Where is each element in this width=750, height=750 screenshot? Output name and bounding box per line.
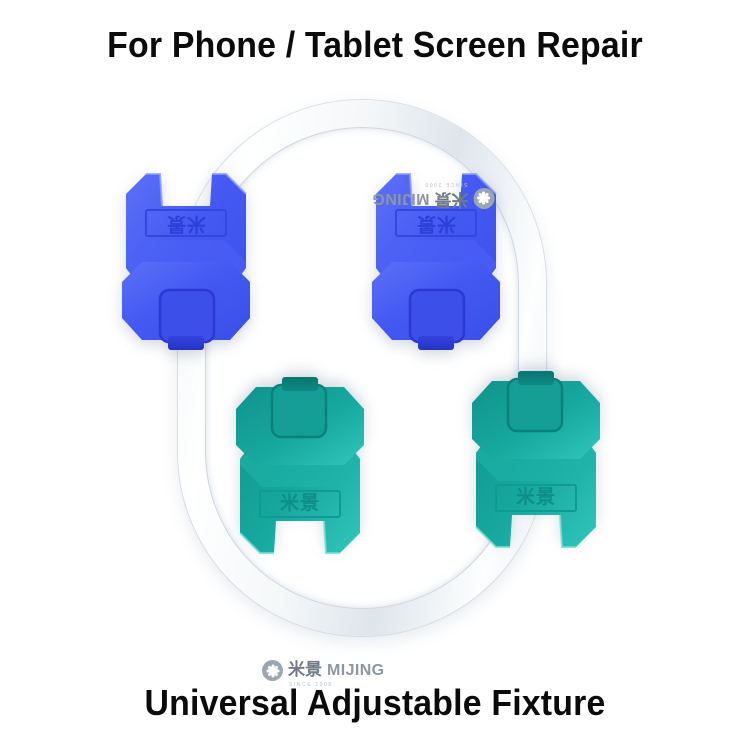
brand-logo-bottom: 米景 MIJING SINCE 2008 — [262, 660, 385, 681]
clamp-teal-left: 米景 — [230, 350, 370, 555]
brand-name-chinese: 米景 — [288, 662, 322, 679]
brand-name-latin: MIJING — [327, 663, 385, 679]
bottom-headline: Universal Adjustable Fixture — [23, 682, 728, 724]
product-promo-image: For Phone / Tablet Screen Repair — [0, 0, 750, 750]
clamp-teal-right: 米景 — [466, 344, 606, 549]
mijing-flower-logo-icon — [262, 660, 283, 681]
top-headline: For Phone / Tablet Screen Repair — [23, 24, 728, 66]
clamp-blue-left: 米景 — [116, 172, 256, 377]
product-photo: 米景 米景 — [0, 78, 750, 658]
